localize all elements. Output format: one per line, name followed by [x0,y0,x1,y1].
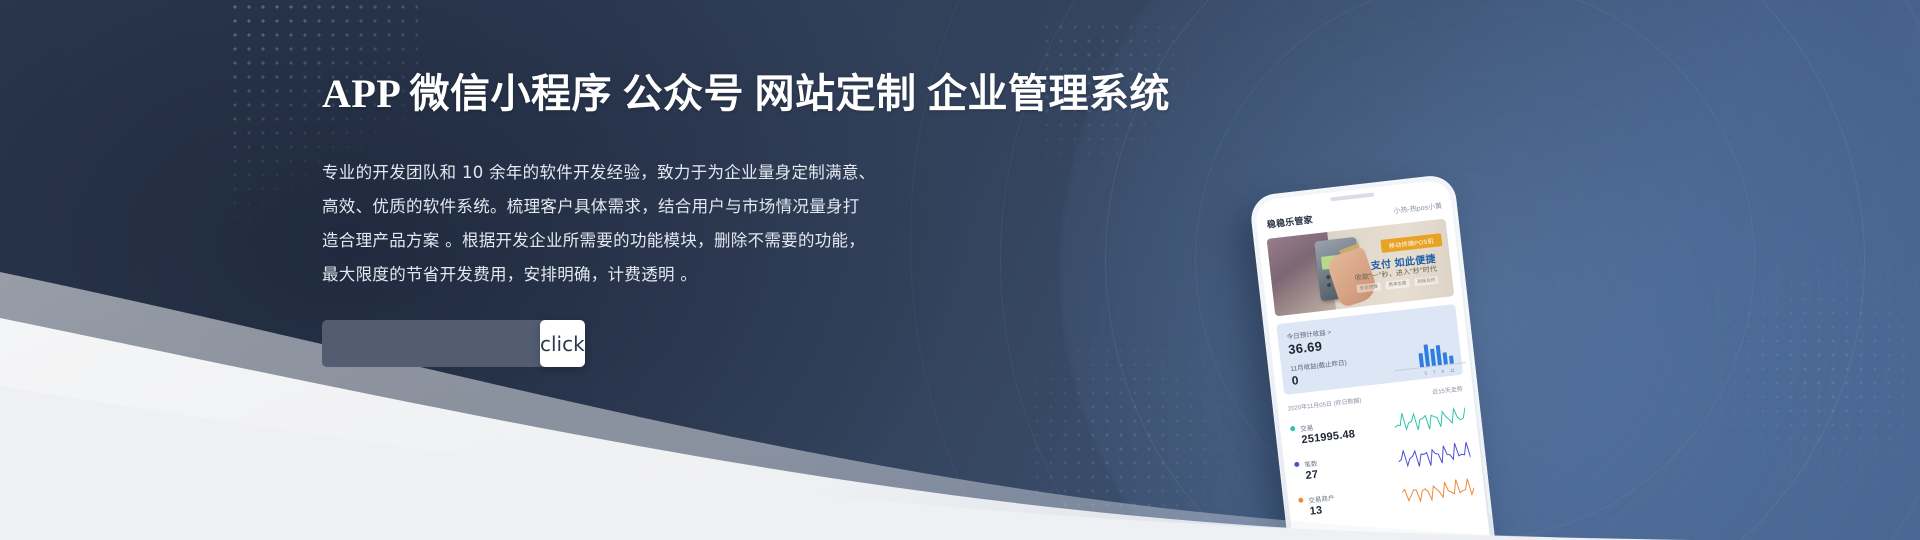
hero-copy: APP 微信小程序 公众号 网站定制 企业管理系统 专业的开发团队和 10 余年… [322,70,1022,292]
cta-input[interactable] [322,320,544,367]
hero-paragraph-line: 最大限度的节省开发费用，安排明确，计费透明 。 [322,258,1022,292]
hero-paragraph-line: 高效、优质的软件系统。梳理客户具体需求，结合用户与市场情况量身打 [322,190,1022,224]
click-button[interactable]: click [540,320,585,367]
page-title: APP 微信小程序 公众号 网站定制 企业管理系统 [322,70,1022,118]
hero-banner: 稳稳乐管家 小热-热pos小黄 移动终端POS机 支付 如此便捷 收款"一"秒，… [0,0,1920,540]
cta-row: click [322,320,567,367]
hero-paragraph-line: 专业的开发团队和 10 余年的软件开发经验，致力于为企业量身定制满意、 [322,156,1022,190]
hero-paragraph: 专业的开发团队和 10 余年的软件开发经验，致力于为企业量身定制满意、高效、优质… [322,156,1022,292]
hero-paragraph-line: 造合理产品方案 。根据开发企业所需要的功能模块，删除不需要的功能， [322,224,1022,258]
